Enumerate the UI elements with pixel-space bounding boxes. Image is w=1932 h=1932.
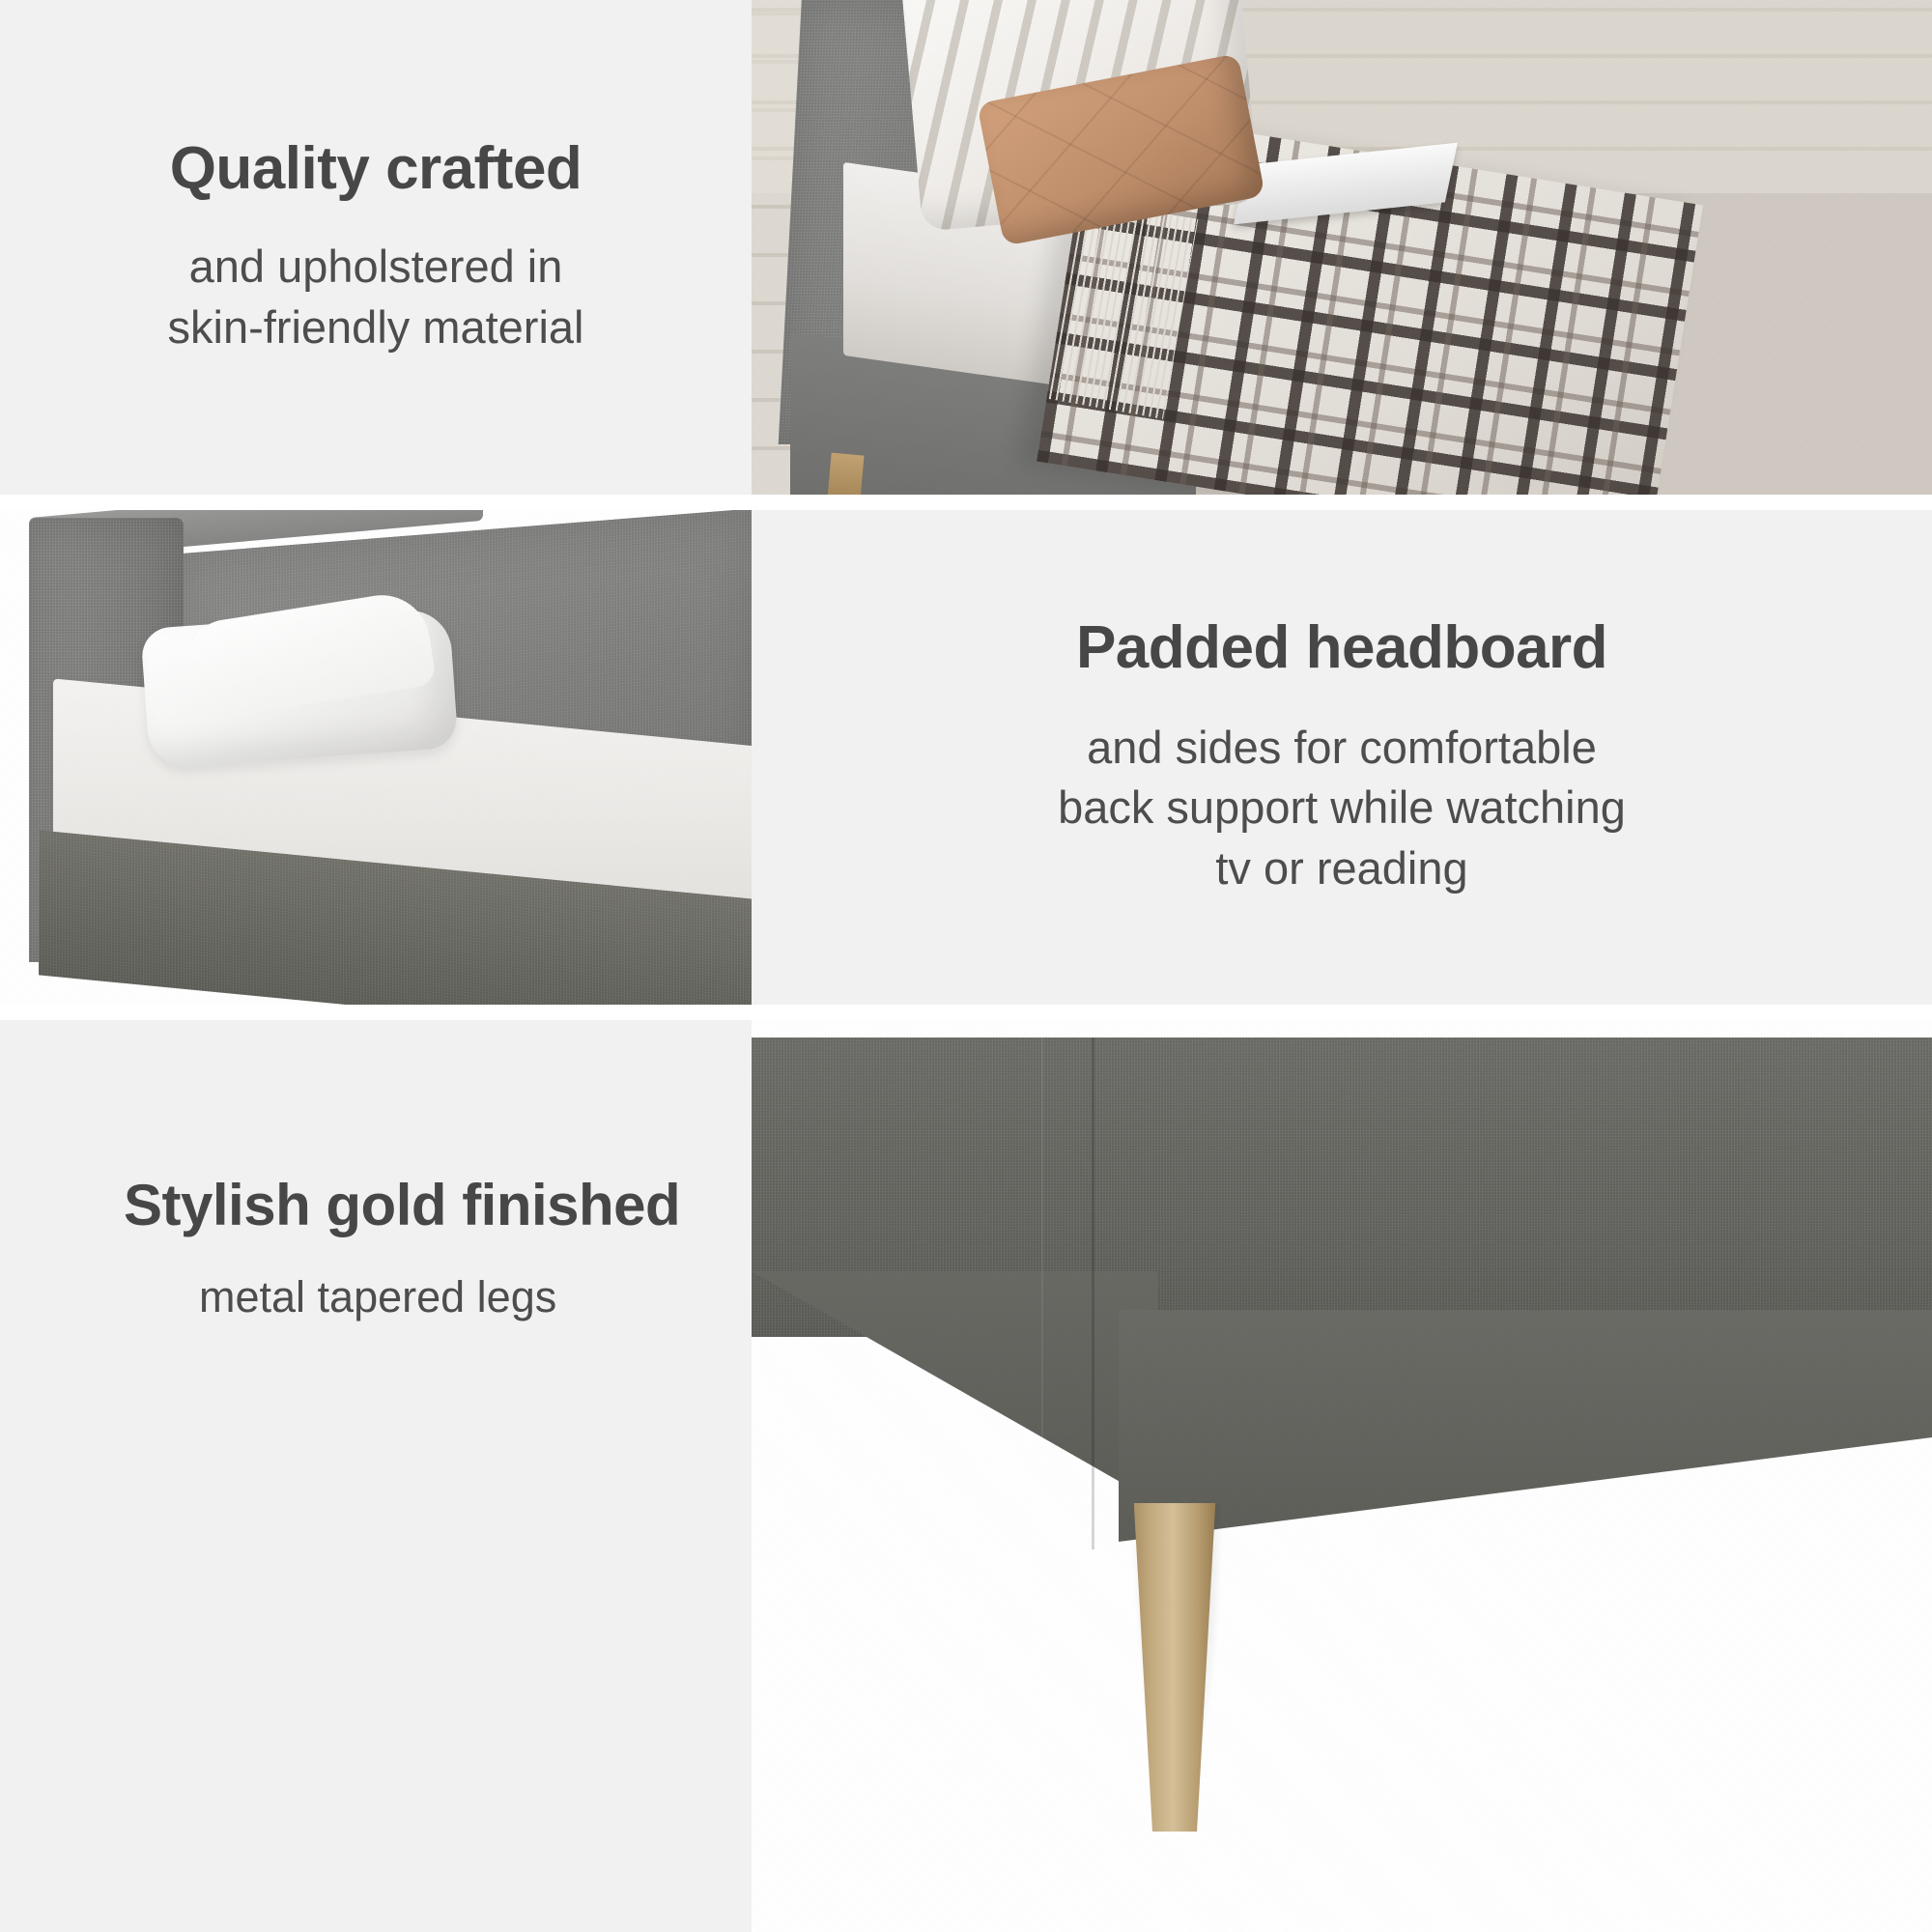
panel-heading-quality-crafted: Quality crafted	[170, 137, 582, 200]
panel-heading-stylish-gold-legs: Stylish gold finished	[124, 1175, 680, 1236]
bed-frame-right-face	[1119, 1310, 1932, 1542]
bed-frame-left-face	[752, 1271, 1157, 1503]
photo-tapered-leg	[752, 1020, 1932, 1932]
corner-seam-highlight	[1041, 1037, 1043, 1530]
corner-seam	[1092, 1037, 1094, 1549]
feature-grid: Quality crafted and upholstered in skin-…	[0, 0, 1932, 1932]
panel-body-stylish-gold-legs: metal tapered legs	[124, 1268, 556, 1326]
panel-body-quality-crafted: and upholstered in skin-friendly materia…	[168, 237, 584, 357]
panel-body-line: back support while watching	[1058, 781, 1626, 833]
panel-stylish-gold-legs: Stylish gold finished metal tapered legs	[0, 1020, 752, 1932]
panel-heading-padded-headboard: Padded headboard	[1076, 616, 1607, 679]
panel-body-line: metal tapered legs	[199, 1272, 556, 1321]
bed-leg	[826, 453, 864, 495]
panel-body-padded-headboard: and sides for comfortable back support w…	[1058, 718, 1626, 899]
panel-body-line: and sides for comfortable	[1087, 722, 1597, 773]
panel-body-line: and upholstered in	[189, 241, 563, 292]
panel-body-line: tv or reading	[1215, 842, 1467, 894]
photo-daybed-styled	[752, 0, 1932, 495]
panel-padded-headboard: Padded headboard and sides for comfortab…	[752, 510, 1932, 1005]
panel-body-line: skin-friendly material	[168, 301, 584, 353]
panel-quality-crafted: Quality crafted and upholstered in skin-…	[0, 0, 752, 495]
photo-daybed-side	[0, 510, 752, 1005]
